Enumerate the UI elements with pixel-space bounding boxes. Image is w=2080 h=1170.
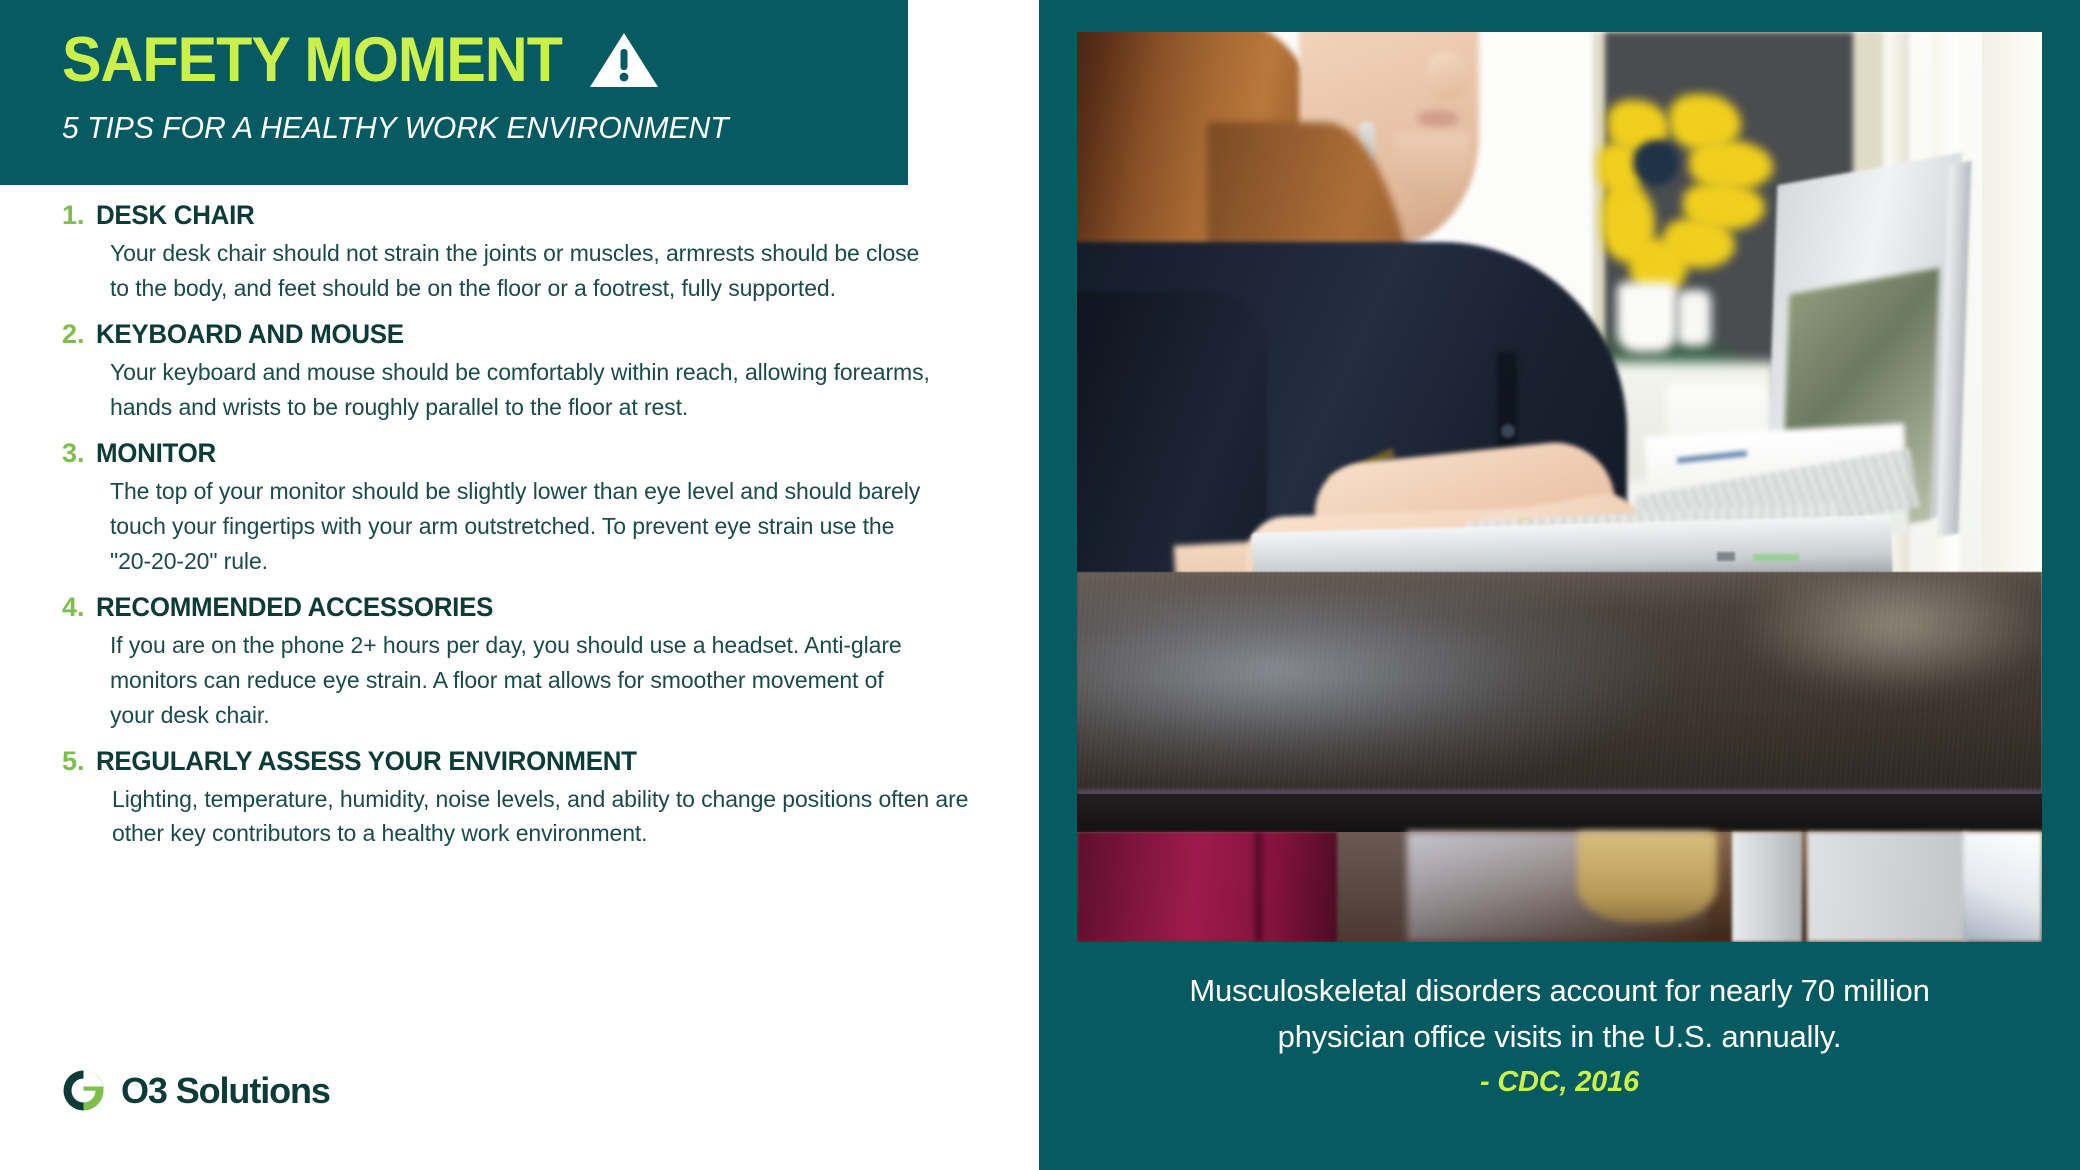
photo-desk-reflection	[1737, 577, 2042, 697]
list-item: 4. RECOMMENDED ACCESSORIES If you are on…	[62, 590, 1027, 733]
title-row: SAFETY MOMENT	[62, 25, 660, 95]
photo-desk-reflection	[1077, 592, 1677, 792]
left-content-panel: SAFETY MOMENT 5 TIPS FOR A HEALTHY WORK …	[0, 0, 1039, 1170]
logo-wordmark: O3 Solutions	[121, 1071, 330, 1111]
tip-heading: 5. REGULARLY ASSESS YOUR ENVIRONMENT	[62, 744, 1027, 778]
list-item: 1. DESK CHAIR Your desk chair should not…	[62, 198, 1027, 306]
tip-number: 5.	[62, 744, 96, 778]
photo-pants-seam	[1255, 832, 1262, 942]
photo-flower-center	[1633, 140, 1679, 186]
photo-laptop-port	[1717, 552, 1735, 561]
list-item: 5. REGULARLY ASSESS YOUR ENVIRONMENT Lig…	[62, 744, 1027, 850]
tip-heading: 2. KEYBOARD AND MOUSE	[62, 317, 1027, 351]
tip-number: 1.	[62, 198, 96, 232]
photo-desk-front-edge	[1077, 794, 2042, 836]
photo-laptop-port	[1753, 554, 1799, 561]
warning-triangle-icon	[588, 31, 660, 89]
tip-body: The top of your monitor should be slight…	[110, 474, 930, 579]
photo-white-object	[1677, 290, 1711, 346]
tip-number: 4.	[62, 590, 96, 624]
tip-number: 3.	[62, 436, 96, 470]
page-title: SAFETY MOMENT	[62, 25, 562, 95]
list-item: 2. KEYBOARD AND MOUSE Your keyboard and …	[62, 317, 1027, 425]
tip-body: Lighting, temperature, humidity, noise l…	[112, 782, 992, 850]
photo-wicker-basket	[1577, 832, 1717, 922]
photo-blouse-button	[1501, 424, 1515, 438]
o3-circle-g-logo-icon	[60, 1067, 107, 1114]
tips-list: 1. DESK CHAIR Your desk chair should not…	[62, 198, 1027, 861]
tip-title: REGULARLY ASSESS YOUR ENVIRONMENT	[96, 744, 637, 778]
tip-heading: 4. RECOMMENDED ACCESSORIES	[62, 590, 1027, 624]
photo-person-nose	[1427, 52, 1469, 100]
tip-heading: 3. MONITOR	[62, 436, 1027, 470]
caption-source: - CDC, 2016	[1077, 1066, 2042, 1099]
caption-line-2: physician office visits in the U.S. annu…	[1077, 1014, 2042, 1060]
tip-title: KEYBOARD AND MOUSE	[96, 317, 404, 351]
safety-moment-infographic: SAFETY MOMENT 5 TIPS FOR A HEALTHY WORK …	[0, 0, 2080, 1170]
photo-bright-window	[1963, 832, 2042, 942]
caption-line-1: Musculoskeletal disorders account for ne…	[1077, 968, 2042, 1014]
workstation-photo	[1077, 32, 2042, 942]
tip-number: 2.	[62, 317, 96, 351]
tip-body: Your keyboard and mouse should be comfor…	[110, 355, 930, 425]
tip-title: DESK CHAIR	[96, 198, 254, 232]
o3-solutions-logo: O3 Solutions	[60, 1067, 330, 1114]
tip-title: RECOMMENDED ACCESSORIES	[96, 590, 493, 624]
photo-white-object	[1617, 282, 1677, 352]
photo-desk-leg	[1807, 832, 1967, 942]
photo-person-pants	[1077, 832, 1337, 942]
tip-body: Your desk chair should not strain the jo…	[110, 236, 930, 306]
photo-desk-leg	[1732, 832, 1802, 942]
tip-body: If you are on the phone 2+ hours per day…	[110, 628, 930, 733]
caption-block: Musculoskeletal disorders account for ne…	[1077, 968, 2042, 1099]
photo-person-lips	[1417, 110, 1459, 127]
tip-title: MONITOR	[96, 436, 216, 470]
right-media-panel: Musculoskeletal disorders account for ne…	[1039, 0, 2080, 1170]
list-item: 3. MONITOR The top of your monitor shoul…	[62, 436, 1027, 579]
tip-heading: 1. DESK CHAIR	[62, 198, 1027, 232]
page-subtitle: 5 TIPS FOR A HEALTHY WORK ENVIRONMENT	[62, 110, 729, 146]
